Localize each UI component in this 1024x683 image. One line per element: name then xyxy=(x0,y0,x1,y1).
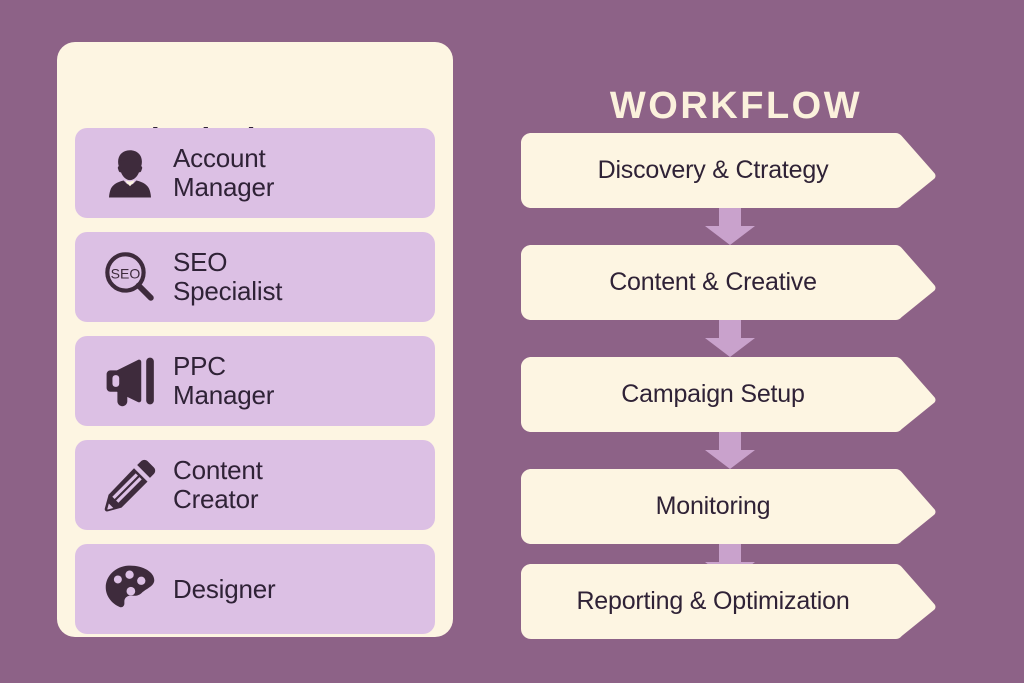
arrow-down-icon xyxy=(521,320,939,357)
workflow-step-3: Campaign Setup xyxy=(521,357,951,469)
workflow-title: WORKFLOW xyxy=(521,87,951,125)
arrow-down-icon xyxy=(521,432,939,469)
role-card-seo-specialist[interactable]: SEO SEO Specialist xyxy=(75,232,435,322)
workflow-step-2: Content & Creative xyxy=(521,245,951,357)
roles-panel: Roles in the Agency Account Manager xyxy=(57,42,453,637)
workflow-step-label: Monitoring xyxy=(523,494,903,519)
workflow-step-1: Discovery & Ctrategy xyxy=(521,133,951,245)
workflow-steps-list: Discovery & Ctrategy Content & Creative xyxy=(521,133,951,639)
workflow-banner[interactable]: Discovery & Ctrategy xyxy=(521,133,939,208)
infographic-canvas: Roles in the Agency Account Manager xyxy=(0,0,1024,683)
workflow-section: WORKFLOW Discovery & Ctrategy xyxy=(521,42,951,637)
arrow-down-icon xyxy=(521,544,939,564)
palette-icon xyxy=(93,557,167,621)
role-card-ppc-manager[interactable]: PPC Manager xyxy=(75,336,435,426)
workflow-step-label: Reporting & Optimization xyxy=(523,589,903,614)
role-label: SEO Specialist xyxy=(167,248,282,305)
role-label: Content Creator xyxy=(167,456,263,513)
workflow-banner[interactable]: Campaign Setup xyxy=(521,357,939,432)
workflow-step-label: Campaign Setup xyxy=(523,382,903,407)
svg-text:SEO: SEO xyxy=(111,265,141,281)
roles-list: Account Manager SEO SEO Specialist xyxy=(75,128,435,634)
role-card-account-manager[interactable]: Account Manager xyxy=(75,128,435,218)
role-label: PPC Manager xyxy=(167,352,274,409)
workflow-step-label: Content & Creative xyxy=(523,270,903,295)
businessman-icon xyxy=(93,141,167,205)
role-label: Account Manager xyxy=(167,144,274,201)
workflow-step-label: Discovery & Ctrategy xyxy=(523,158,903,183)
role-card-content-creator[interactable]: Content Creator xyxy=(75,440,435,530)
role-card-designer[interactable]: Designer xyxy=(75,544,435,634)
role-label: Designer xyxy=(167,575,275,604)
workflow-banner[interactable]: Reporting & Optimization xyxy=(521,564,939,639)
pencil-icon xyxy=(93,453,167,517)
workflow-step-5: Reporting & Optimization xyxy=(521,564,951,639)
megaphone-icon xyxy=(93,349,167,413)
workflow-banner[interactable]: Monitoring xyxy=(521,469,939,544)
arrow-down-icon xyxy=(521,208,939,245)
magnifier-seo-icon: SEO xyxy=(93,245,167,309)
workflow-banner[interactable]: Content & Creative xyxy=(521,245,939,320)
workflow-step-4: Monitoring xyxy=(521,469,951,564)
